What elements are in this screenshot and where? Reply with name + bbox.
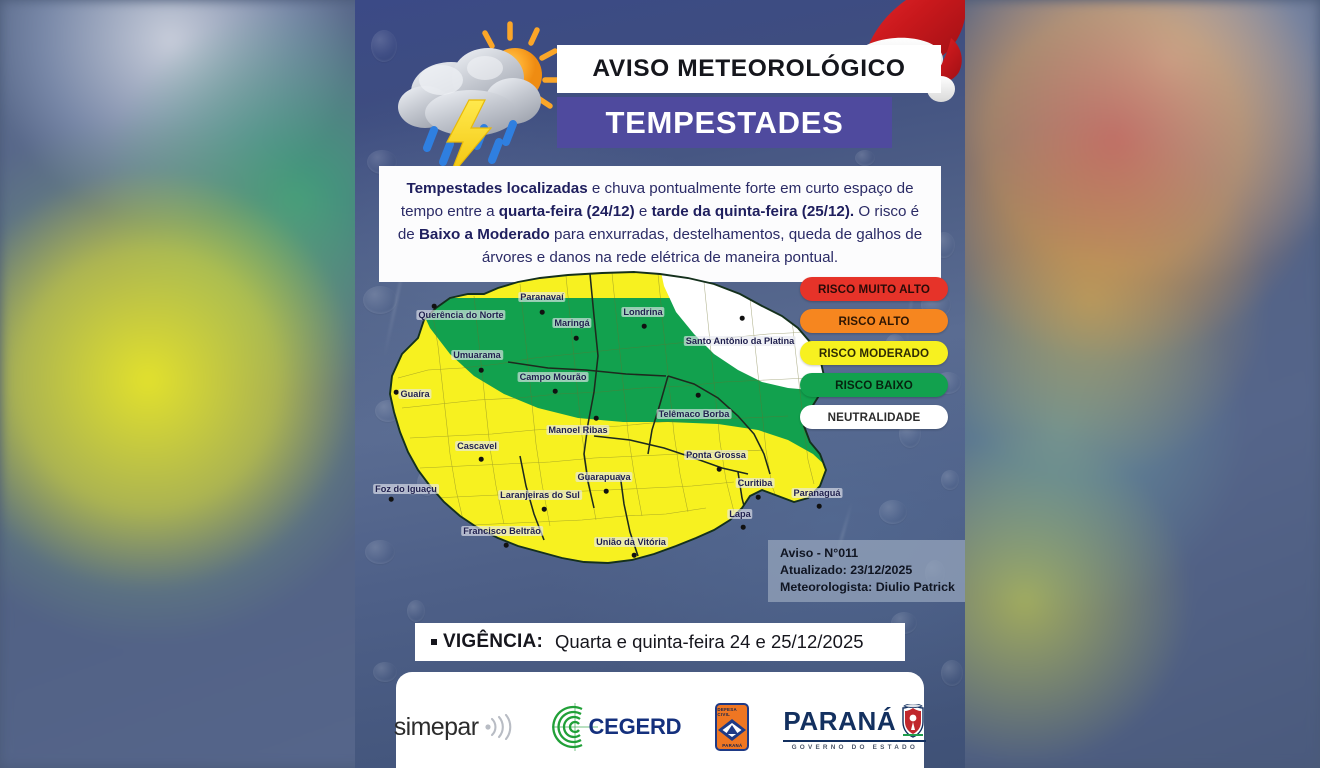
city-label: Querência do Norte [416,310,505,320]
legend-item-risco-muito-alto: RISCO MUITO ALTO [800,277,948,301]
city-label: Maringá [552,318,591,328]
city-dot [632,553,637,558]
city-label: Laranjeiras do Sul [498,490,582,500]
alert-description-text: Tempestades localizadas e chuva pontualm… [395,177,925,269]
city-label: Campo Mourão [518,372,589,382]
page-subtitle: TEMPESTADES [606,105,844,141]
validity-value: Quarta e quinta-feira 24 e 25/12/2025 [555,631,864,653]
legend-label: RISCO ALTO [839,315,910,328]
city-dot [574,336,579,341]
city-dot [389,497,394,502]
validity-label: VIGÊNCIA: [443,631,543,653]
screenshot-root: AVISO METEOROLÓGICO TEMPESTADES Tempesta… [0,0,1320,768]
city-label: Manoel Ribas [546,425,609,435]
city-dot [817,504,822,509]
city-dot [741,525,746,530]
legend-item-neutralidade: NEUTRALIDADE [800,405,948,429]
poster-subtitle-bar: TEMPESTADES [557,97,892,148]
city-label: Telêmaco Borba [657,409,732,419]
cegerd-wordmark: CEGERD [588,714,681,740]
storm-weather-icon [387,18,567,183]
signal-waves-icon [484,714,518,740]
city-label: Paranaguá [792,488,843,498]
legend-label: NEUTRALIDADE [828,411,921,424]
city-label: União da Vitória [594,537,668,547]
notice-updated: Atualizado: 23/12/2025 [780,562,960,579]
parana-sub-wordmark: GOVERNO DO ESTADO [783,740,926,751]
logo-parana-governo: PARANÁ GOVERNO DO ESTADO [783,704,926,751]
bullet-icon [431,639,437,645]
city-label: Santo Antônio da Platina [684,336,796,346]
city-dot [642,324,647,329]
defesa-civil-top-text: DEFESA CIVIL [717,707,747,717]
city-label: Curitiba [736,478,775,488]
footer-logo-bar: simepar [396,672,924,768]
defesa-civil-bottom-text: PARANÁ [722,743,742,748]
city-dot [717,467,722,472]
city-dot [479,457,484,462]
simepar-wordmark: simepar [394,713,479,742]
city-label: Guarapuava [575,472,632,482]
city-dot [479,368,484,373]
city-label: Umuarama [451,350,503,360]
city-label: Londrina [621,307,664,317]
city-label: Cascavel [455,441,499,451]
city-label: Lapa [727,509,752,519]
parana-coat-of-arms-icon [900,704,926,738]
city-label: Ponta Grossa [684,450,748,460]
city-dot [553,389,558,394]
notice-meteorologist: Meteorologista: Diulio Patrick [780,579,960,596]
city-dot [604,489,609,494]
page-title: AVISO METEOROLÓGICO [592,55,905,83]
city-label: Foz do Iguaçu [373,484,439,494]
risk-legend: RISCO MUITO ALTO RISCO ALTO RISCO MODERA… [800,277,948,437]
city-dot [504,543,509,548]
legend-label: RISCO MUITO ALTO [818,283,930,296]
city-dot [740,316,745,321]
city-label: Guaíra [398,389,431,399]
legend-label: RISCO MODERADO [819,347,929,360]
legend-item-risco-alto: RISCO ALTO [800,309,948,333]
city-dot [432,304,437,309]
logo-cegerd: CEGERD [552,703,681,751]
city-label: Francisco Beltrão [461,526,543,536]
legend-item-risco-moderado: RISCO MODERADO [800,341,948,365]
validity-bar: VIGÊNCIA: Quarta e quinta-feira 24 e 25/… [415,623,905,661]
city-dot [696,393,701,398]
parana-wordmark: PARANÁ [783,708,896,734]
city-dot [756,495,761,500]
defesa-civil-triangle-icon [717,718,747,742]
logo-simepar: simepar [394,713,519,742]
weather-alert-poster: AVISO METEOROLÓGICO TEMPESTADES Tempesta… [355,0,965,768]
city-dot [540,310,545,315]
legend-item-risco-baixo: RISCO BAIXO [800,373,948,397]
city-dot [542,507,547,512]
city-label: Paranavaí [518,292,565,302]
notice-number: Aviso - N°011 [780,545,960,562]
city-dot [594,416,599,421]
legend-label: RISCO BAIXO [835,379,913,392]
logo-defesa-civil: DEFESA CIVIL PARANÁ [715,703,749,751]
notice-info-box: Aviso - N°011 Atualizado: 23/12/2025 Met… [768,540,965,602]
poster-title-bar: AVISO METEOROLÓGICO [557,45,941,93]
